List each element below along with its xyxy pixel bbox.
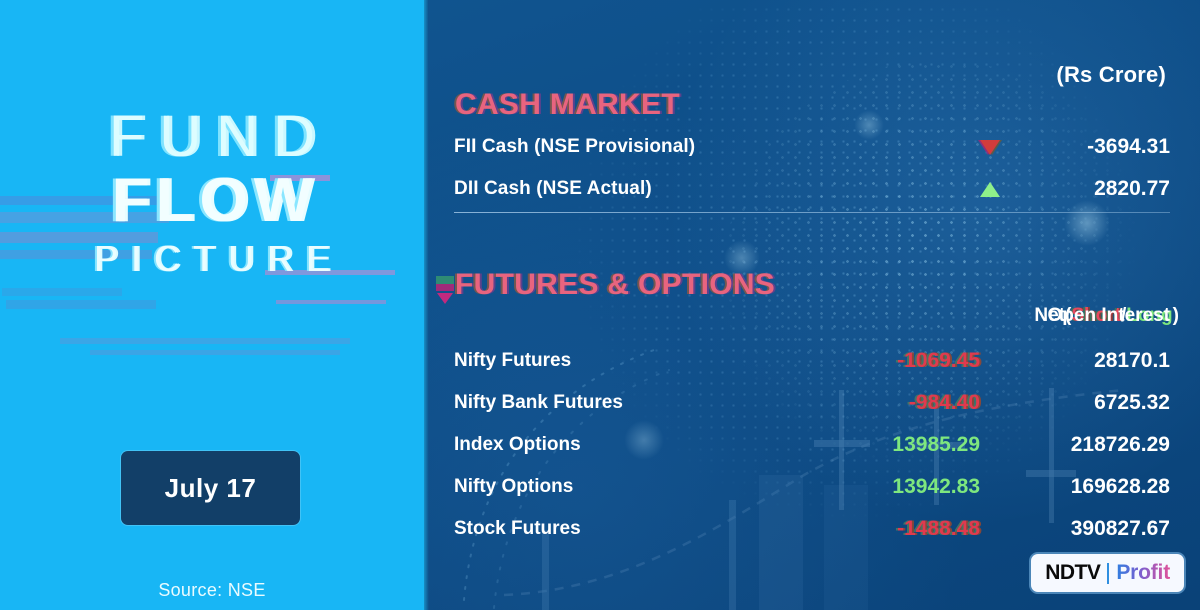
cash-row-value: -3694.31 — [1020, 135, 1170, 159]
title-line-picture: PICTURE — [0, 237, 424, 280]
futures-options-heading: FUTURES & OPTIONS — [455, 268, 775, 302]
glitch-artifact — [436, 276, 454, 306]
column-header-open-interest: Open Interest — [1024, 305, 1170, 327]
table-row: FII Cash (NSE Provisional) -3694.31 — [454, 130, 1170, 164]
logo-product-text: Profit — [1116, 561, 1170, 585]
glitch-artifact — [60, 338, 350, 344]
fno-row-net: 13942.83 — [780, 475, 1002, 499]
fno-row-net: -984.40 — [780, 391, 1002, 415]
logo-divider — [1107, 563, 1109, 584]
fno-row-label: Index Options — [454, 434, 780, 456]
fno-row-label: Stock Futures — [454, 518, 780, 540]
arrow-up-icon — [960, 182, 1020, 197]
cash-row-label: FII Cash (NSE Provisional) — [454, 136, 960, 158]
fno-row-open-interest: 218726.29 — [1002, 433, 1170, 457]
unit-label: (Rs Crore) — [1056, 62, 1166, 88]
date-badge: July 17 — [121, 451, 300, 525]
cash-row-label: DII Cash (NSE Actual) — [454, 178, 960, 200]
logo-brand-text: NDTV — [1045, 561, 1100, 585]
fno-row-open-interest: 390827.67 — [1002, 517, 1170, 541]
glitch-artifact — [90, 350, 340, 355]
fno-row-label: Nifty Futures — [454, 350, 780, 372]
fno-row-label: Nifty Bank Futures — [454, 392, 780, 414]
table-row: Nifty Options 13942.83 169628.28 — [454, 470, 1170, 504]
fno-row-net: 13985.29 — [780, 433, 1002, 457]
fno-row-open-interest: 28170.1 — [1002, 349, 1170, 373]
panel-edge-strip — [424, 0, 429, 610]
fno-row-net: -1488.48 — [780, 517, 1002, 541]
title-line-fund: FUND — [0, 108, 424, 166]
table-row: Index Options 13985.29 218726.29 — [454, 428, 1170, 462]
right-panel: (Rs Crore) CASH MARKET FII Cash (NSE Pro… — [424, 0, 1200, 610]
glow-dot — [1064, 200, 1110, 246]
left-panel: FUND FLOW PICTURE July 17 Source: NSE — [0, 0, 424, 610]
fno-row-open-interest: 169628.28 — [1002, 475, 1170, 499]
fno-row-label: Nifty Options — [454, 476, 780, 498]
cash-market-heading: CASH MARKET — [455, 88, 680, 122]
fno-row-net: -1069.45 — [780, 349, 1002, 373]
glitch-artifact — [276, 300, 386, 304]
fund-flow-graphic: FUND FLOW PICTURE July 17 Source: NSE — [0, 0, 1200, 610]
ndtv-profit-logo: NDTV Profit — [1031, 554, 1184, 592]
table-row: Stock Futures -1488.48 390827.67 — [454, 512, 1170, 546]
glitch-artifact — [2, 288, 122, 296]
title-line-flow: FLOW — [0, 168, 424, 233]
date-badge-label: July 17 — [165, 473, 257, 504]
glitch-artifact — [6, 300, 156, 309]
brand-title: FUND FLOW PICTURE — [0, 108, 424, 280]
source-label: Source: NSE — [0, 580, 424, 601]
net-suffix: ) — [1173, 305, 1179, 326]
table-row: Nifty Bank Futures -984.40 6725.32 — [454, 386, 1170, 420]
table-row: DII Cash (NSE Actual) 2820.77 — [454, 172, 1170, 206]
cash-row-value: 2820.77 — [1020, 177, 1170, 201]
section-divider — [454, 212, 1170, 213]
arrow-down-icon — [960, 140, 1020, 155]
fno-row-open-interest: 6725.32 — [1002, 391, 1170, 415]
table-row: Nifty Futures -1069.45 28170.1 — [454, 344, 1170, 378]
